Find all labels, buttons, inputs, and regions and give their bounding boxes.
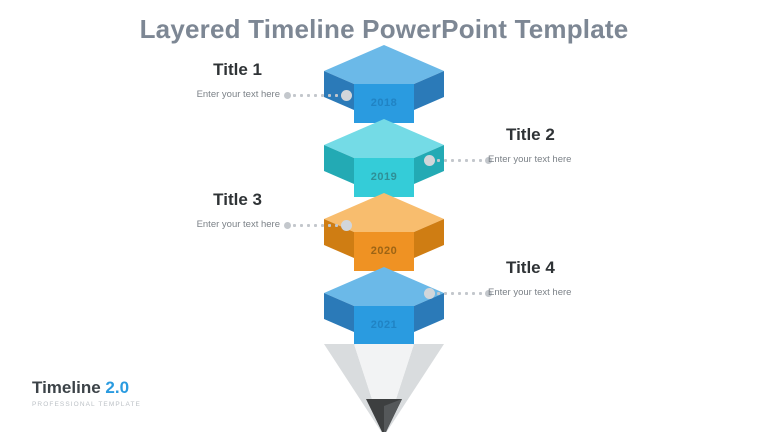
- layer-3-front-face: [354, 232, 414, 271]
- callout-4-title: Title 4: [506, 258, 571, 278]
- page-title: Layered Timeline PowerPoint Template: [0, 14, 768, 45]
- brand-name-line: Timeline 2.0: [32, 378, 141, 398]
- callout-2[interactable]: Title 2 Enter your text here: [488, 125, 571, 165]
- connector-3-line: [293, 224, 339, 227]
- connector-2: [424, 155, 492, 165]
- connector-2-inner-dot: [424, 155, 435, 166]
- connector-4-line: [437, 292, 483, 295]
- connector-3-outer-dot: [284, 222, 291, 229]
- layer-4-front-face: [354, 306, 414, 345]
- connector-1-inner-dot: [341, 90, 352, 101]
- callout-4-subtitle: Enter your text here: [488, 287, 571, 298]
- layer-1-front-face: [354, 84, 414, 123]
- brand-name: Timeline: [32, 378, 101, 397]
- connector-2-line: [437, 159, 483, 162]
- brand-logo: Timeline 2.0 PROFESSIONAL TEMPLATE: [32, 378, 141, 408]
- callout-4[interactable]: Title 4 Enter your text here: [488, 258, 571, 298]
- connector-4-inner-dot: [424, 288, 435, 299]
- callout-3-title: Title 3: [197, 190, 262, 210]
- callout-2-title: Title 2: [506, 125, 571, 145]
- brand-tagline: PROFESSIONAL TEMPLATE: [32, 401, 141, 408]
- timeline-layer-1[interactable]: 2018: [309, 45, 459, 123]
- callout-1-subtitle: Enter your text here: [197, 89, 280, 100]
- connector-1-outer-dot: [284, 92, 291, 99]
- connector-3-inner-dot: [341, 220, 352, 231]
- callout-1-title: Title 1: [197, 60, 262, 80]
- callout-3[interactable]: Title 3 Enter your text here: [197, 190, 280, 230]
- callout-1[interactable]: Title 1 Enter your text here: [197, 60, 280, 100]
- connector-1-line: [293, 94, 339, 97]
- timeline-layer-3[interactable]: 2020: [309, 193, 459, 271]
- callout-3-subtitle: Enter your text here: [197, 219, 280, 230]
- connector-1: [284, 90, 352, 100]
- timeline-layer-4[interactable]: 2021: [309, 267, 459, 345]
- connector-4: [424, 288, 492, 298]
- connector-3: [284, 220, 352, 230]
- pencil-timeline-graphic: 2018 2019 2020 2021: [309, 45, 459, 432]
- layer-2-front-face: [354, 158, 414, 197]
- callout-2-subtitle: Enter your text here: [488, 154, 571, 165]
- brand-version: 2.0: [105, 378, 129, 397]
- pencil-tip: [309, 344, 459, 432]
